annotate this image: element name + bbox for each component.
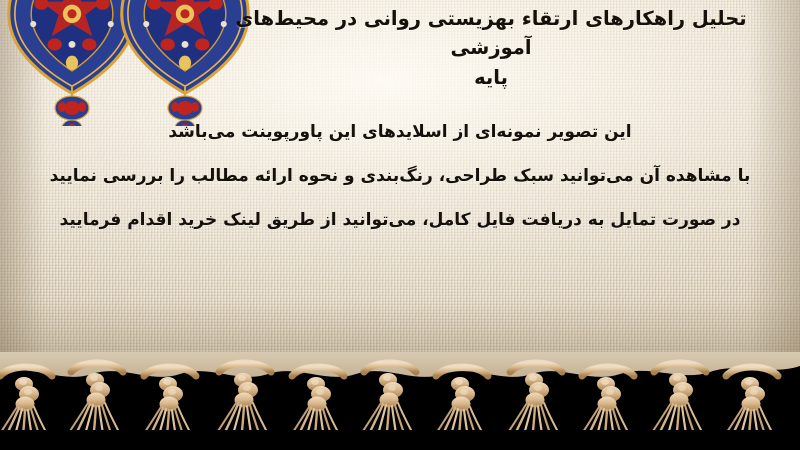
slide-body: این تصویر نمونه‌ای از اسلایدهای این پاور… [0,110,800,242]
slide-body-line-2: با مشاهده آن می‌توانید سبک طراحی، رنگ‌بن… [0,154,800,198]
slide-canvas: تحلیل راهکارهای ارتقاء بهزیستی روانی در … [0,0,800,450]
slide-title-line-1: تحلیل راهکارهای ارتقاء بهزیستی روانی در … [235,7,746,59]
slide-title: تحلیل راهکارهای ارتقاء بهزیستی روانی در … [200,4,782,92]
slide-title-line-2: پایه [474,66,508,89]
slide-body-line-1: این تصویر نمونه‌ای از اسلایدهای این پاور… [0,110,800,154]
slide-body-line-3: در صورت تمایل به دریافت فایل کامل، می‌تو… [0,198,800,242]
fringe-black-base [0,430,800,450]
